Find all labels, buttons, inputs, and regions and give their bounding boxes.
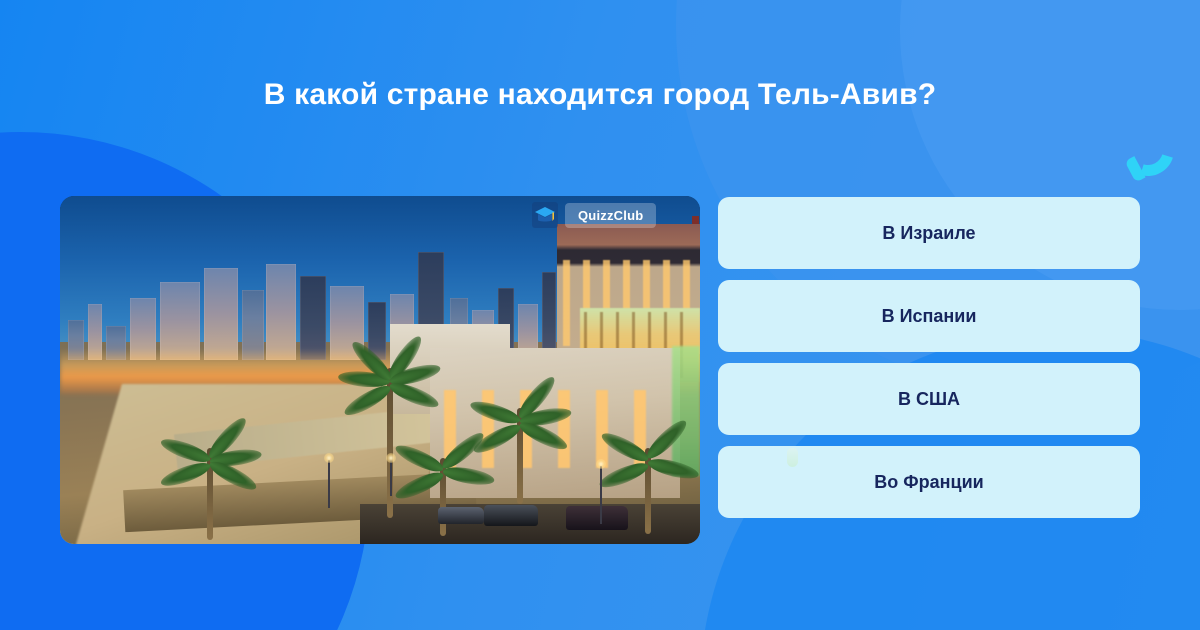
answer-option-3[interactable]: В США: [718, 363, 1140, 435]
cursor-indicator: [787, 448, 798, 467]
photo-street-lamp: [600, 466, 602, 524]
question-image: QuizzClub: [60, 196, 700, 544]
photo-building-green-glow: [672, 346, 700, 476]
photo-tower: [300, 276, 326, 360]
photo-car: [566, 506, 628, 530]
graduation-cap-icon: [532, 202, 558, 228]
photo-palm: [620, 448, 676, 534]
photo-tower: [160, 282, 200, 360]
answer-option-2[interactable]: В Испании: [718, 280, 1140, 352]
quiz-card: В какой стране находится город Тель-Авив…: [0, 0, 1200, 630]
photo-car: [484, 505, 538, 526]
photo-tower: [204, 268, 238, 360]
page-title: В какой стране находится город Тель-Авив…: [0, 76, 1200, 114]
photo-car: [438, 507, 484, 524]
watermark-brand: QuizzClub: [565, 203, 656, 228]
photo-street-lamp: [328, 460, 330, 508]
answer-list: В Израиле В Испании В США Во Франции: [718, 197, 1140, 518]
photo-tower: [266, 264, 296, 360]
photo-palm: [415, 458, 471, 536]
photo-palm: [180, 448, 240, 540]
watermark: QuizzClub: [532, 202, 656, 228]
photo-tower: [542, 272, 556, 360]
photo-street-lamp: [390, 460, 392, 496]
photo-palm: [490, 408, 550, 504]
answer-option-4[interactable]: Во Франции: [718, 446, 1140, 518]
answer-option-1[interactable]: В Израиле: [718, 197, 1140, 269]
